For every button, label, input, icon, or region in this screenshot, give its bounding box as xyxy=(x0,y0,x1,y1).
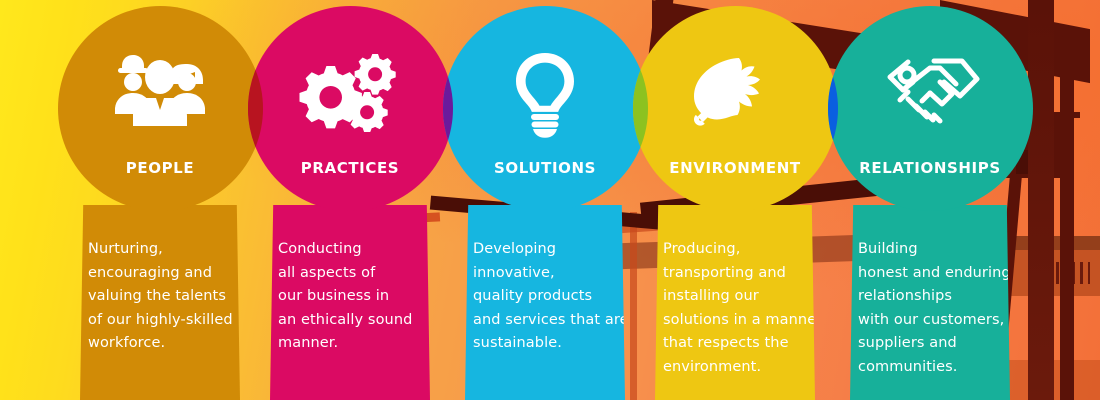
pillar-panel[interactable]: Building honest and enduring relationshi… xyxy=(850,205,1010,400)
pillar-panel[interactable]: Conducting all aspects of our business i… xyxy=(270,205,430,400)
pillar-head: RELATIONSHIPS xyxy=(828,6,1033,211)
pillar-label: PRACTICES xyxy=(248,159,453,177)
pillar-head: SOLUTIONS xyxy=(443,6,648,211)
pillar-label: RELATIONSHIPS xyxy=(828,159,1033,177)
pillar-head: PEOPLE xyxy=(58,6,263,211)
pillar-label: PEOPLE xyxy=(58,159,263,177)
pillar-description: Conducting all aspects of our business i… xyxy=(278,238,450,356)
lightbulb-icon xyxy=(509,52,581,138)
infographic-canvas: Nurturing, encouraging and valuing the t… xyxy=(0,0,1100,400)
pillar-head: ENVIRONMENT xyxy=(633,6,838,211)
pillar-description: Nurturing, encouraging and valuing the t… xyxy=(88,238,260,356)
handshake-icon xyxy=(878,52,982,128)
second-crane-mast xyxy=(630,212,637,400)
pillar-description: Developing innovative, quality products … xyxy=(473,238,645,356)
pillar-label: ENVIRONMENT xyxy=(633,159,838,177)
people-group-icon xyxy=(101,52,219,130)
pillar-panel[interactable]: Nurturing, encouraging and valuing the t… xyxy=(80,205,240,400)
gears-icon xyxy=(298,52,402,132)
pillar-head: PRACTICES xyxy=(248,6,453,211)
leaf-icon xyxy=(692,52,778,134)
pillar-panel[interactable]: Producing, transporting and installing o… xyxy=(655,205,815,400)
pillar-panel[interactable]: Developing innovative, quality products … xyxy=(465,205,625,400)
pillar-description: Producing, transporting and installing o… xyxy=(663,238,835,379)
right-crane-mast-rear xyxy=(1060,40,1074,400)
pillar-label: SOLUTIONS xyxy=(443,159,648,177)
pillar-description: Building honest and enduring relationshi… xyxy=(858,238,1030,379)
